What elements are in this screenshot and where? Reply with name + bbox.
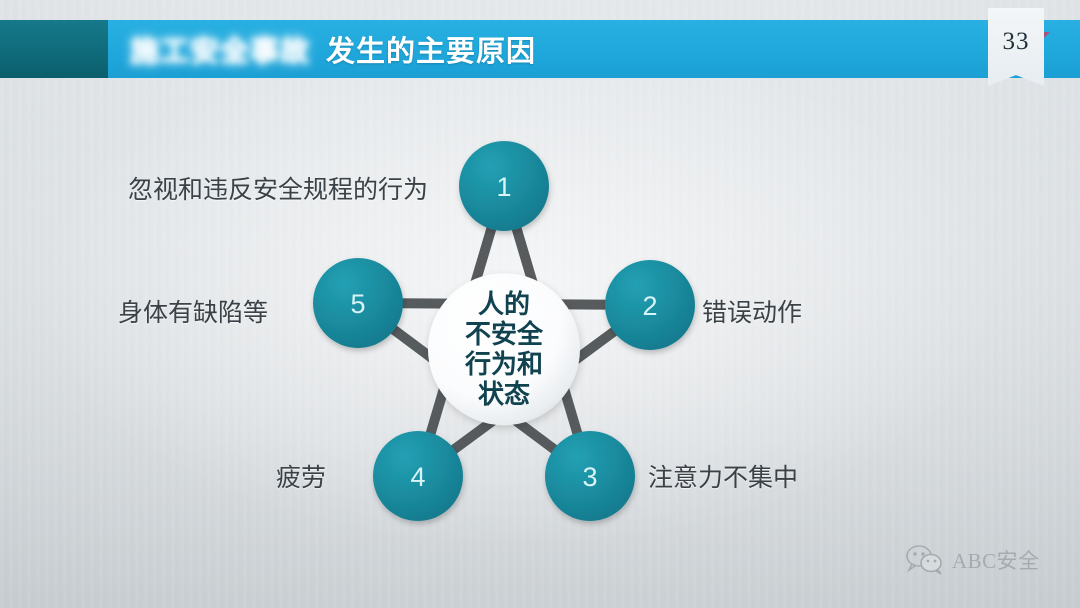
- node-number-1: 1: [496, 172, 511, 202]
- page-title-obscured-prefix: 施工安全事故: [130, 28, 310, 70]
- watermark: ABC安全: [905, 545, 1040, 575]
- page-number-value: 33: [1003, 28, 1030, 56]
- node-number-5: 5: [350, 289, 365, 319]
- node-number-3: 3: [582, 462, 597, 492]
- pentagram-diagram: 12345 人的不安全行为和状态 忽视和违反安全规程的行为错误动作注意力不集中疲…: [0, 78, 1080, 608]
- node-label-5: 身体有缺陷等: [118, 293, 268, 329]
- page-title: 施工安全事故发生的主要原因: [130, 20, 536, 78]
- page-number-badge: 33: [988, 8, 1044, 86]
- header-left-block: [0, 20, 108, 78]
- watermark-text: ABC安全: [952, 545, 1040, 575]
- node-label-4: 疲劳: [276, 458, 326, 494]
- center-text-line-4: 状态: [478, 379, 530, 409]
- slide-root: 施工安全事故发生的主要原因 33: [0, 0, 1080, 608]
- diagram-canvas: 12345 人的不安全行为和状态: [0, 78, 1080, 608]
- node-label-2: 错误动作: [702, 293, 802, 329]
- center-text-line-3: 行为和: [464, 349, 543, 379]
- slide-header: 施工安全事故发生的主要原因: [0, 20, 1080, 78]
- node-number-4: 4: [410, 462, 425, 492]
- page-title-text: 发生的主要原因: [326, 28, 536, 70]
- node-label-1: 忽视和违反安全规程的行为: [128, 170, 428, 206]
- center-text-line-2: 不安全: [465, 319, 544, 349]
- node-label-3: 注意力不集中: [648, 458, 798, 494]
- wechat-icon: [905, 545, 945, 575]
- node-number-2: 2: [642, 291, 657, 321]
- center-text-line-1: 人的: [478, 289, 530, 319]
